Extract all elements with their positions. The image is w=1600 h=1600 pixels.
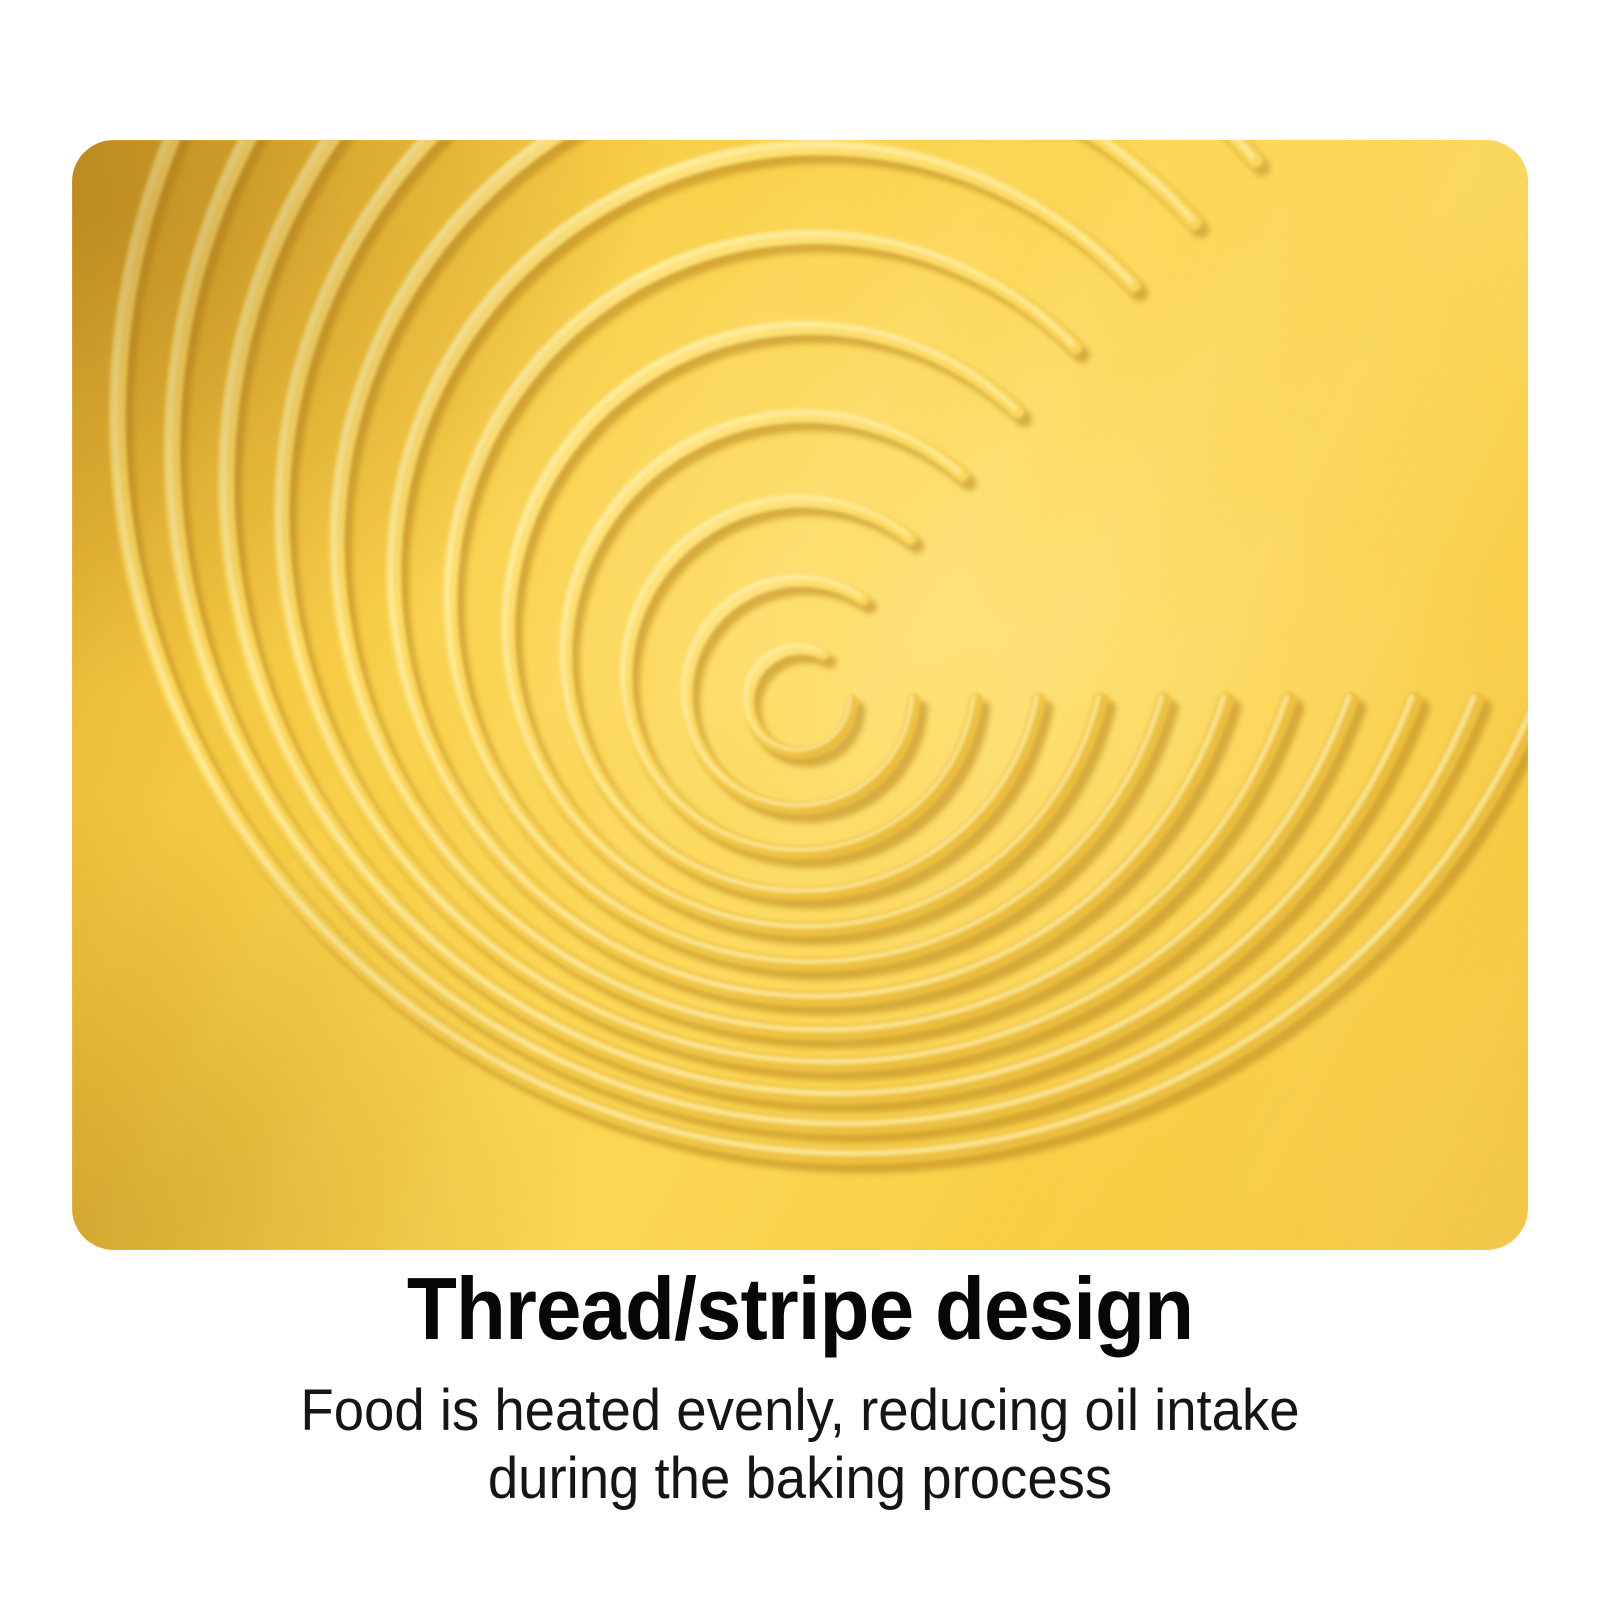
caption-block: Thread/stripe design Food is heated even… (0, 1262, 1600, 1512)
feature-subcopy: Food is heated evenly, reducing oil inta… (48, 1377, 1552, 1512)
product-feature-card: Thread/stripe design Food is heated even… (0, 0, 1600, 1600)
product-image (72, 140, 1528, 1250)
photo-softening-layer (72, 140, 1528, 1250)
concentric-ring-texture (72, 140, 1528, 1250)
feature-headline: Thread/stripe design (56, 1262, 1544, 1355)
subcopy-line-1: Food is heated evenly, reducing oil inta… (48, 1377, 1552, 1444)
subcopy-line-2: during the baking process (48, 1445, 1552, 1512)
